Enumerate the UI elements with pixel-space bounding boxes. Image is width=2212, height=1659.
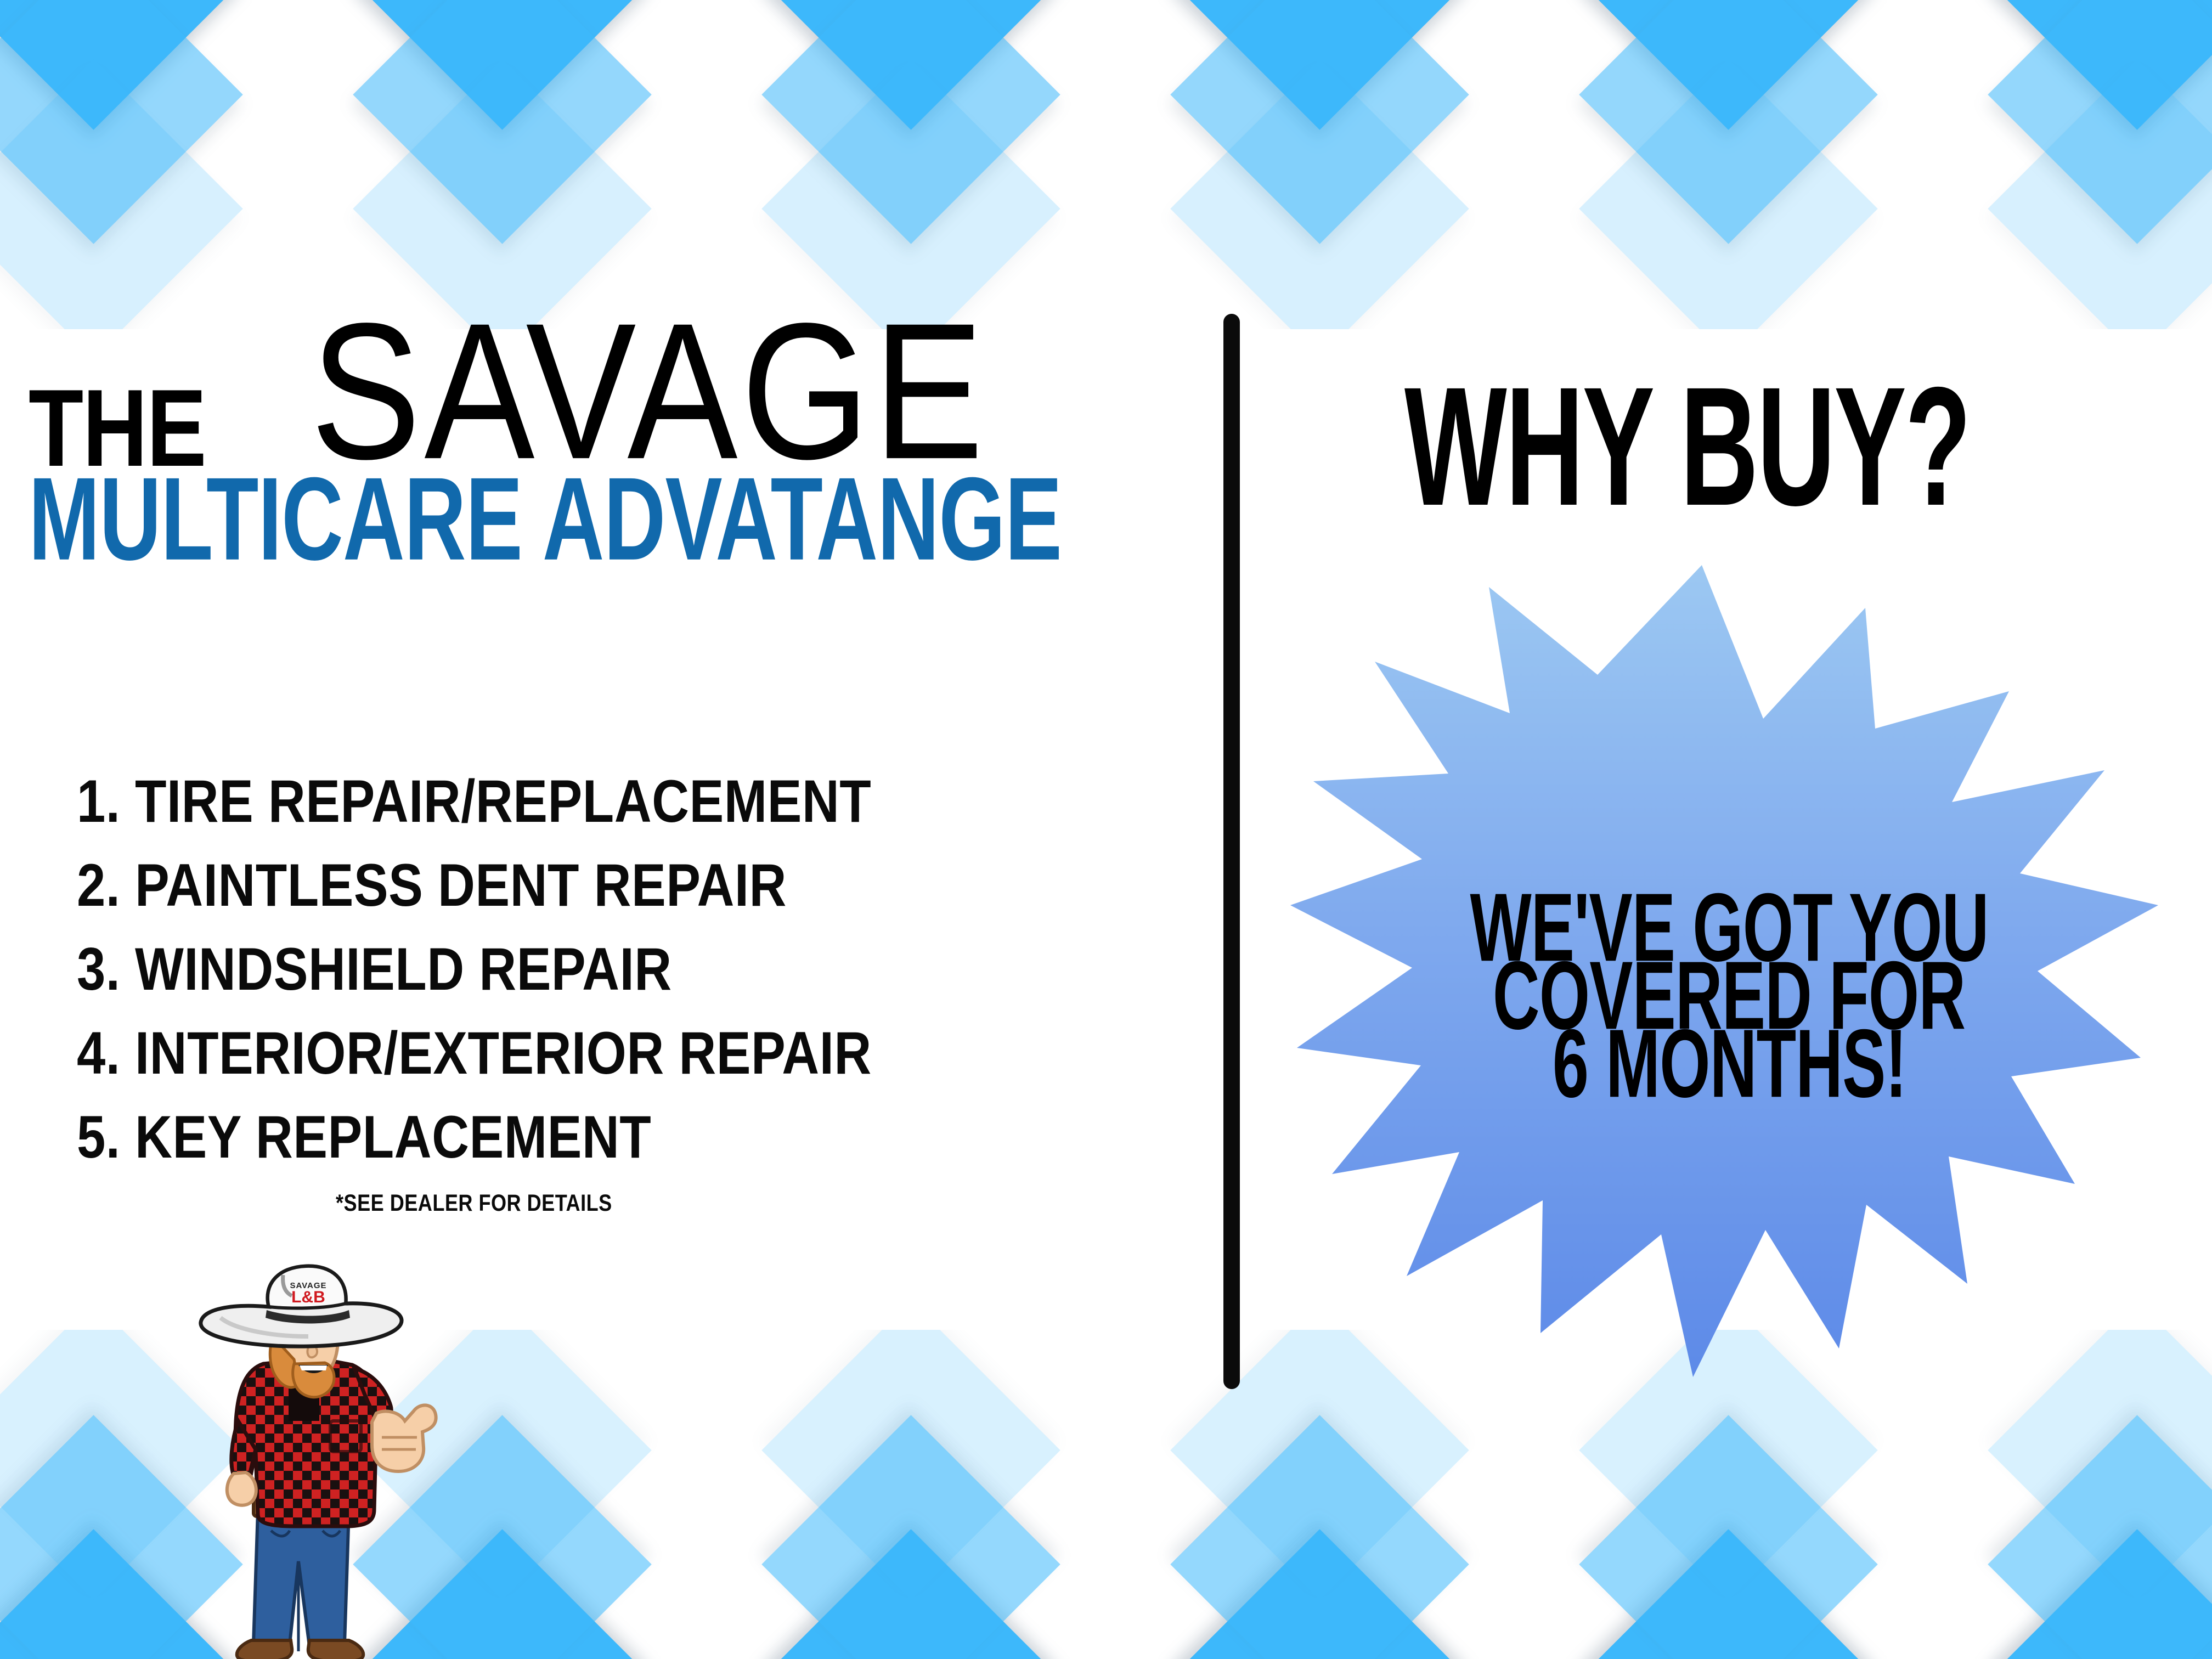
mascot-boots — [237, 1640, 363, 1659]
list-item: 4. INTERIOR/EXTERIOR REPAIR — [77, 1023, 872, 1083]
list-item: 1. TIRE REPAIR/REPLACEMENT — [77, 771, 872, 831]
starburst-badge: WE'VE GOT YOU COVERED FOR 6 MONTHS! — [1285, 554, 2174, 1388]
right-panel: WHY BUY? WE'VE GOT YOU COVERED FOR 6 MON… — [1240, 0, 2212, 1659]
fineprint-disclaimer: *SEE DEALER FOR DETAILS — [336, 1190, 612, 1217]
poster-canvas: THE SAVAGE MULTICARE ADVATANGE 1. TIRE R… — [0, 0, 2212, 1659]
mascot-jeans — [253, 1511, 349, 1657]
list-item: 3. WINDSHIELD REPAIR — [77, 939, 872, 999]
mascot-cowboy-hat: SAVAGE L&B — [201, 1266, 402, 1346]
why-buy-headline: WHY BUY? — [1404, 362, 1970, 531]
vertical-divider — [1223, 314, 1240, 1389]
starburst-shape — [1290, 565, 2158, 1377]
benefit-list: 1. TIRE REPAIR/REPLACEMENT 2. PAINTLESS … — [77, 771, 905, 1160]
title-subtitle: MULTICARE ADVATANGE — [29, 460, 1062, 578]
hat-logo-lb-text: L&B — [291, 1288, 325, 1306]
left-panel: THE SAVAGE MULTICARE ADVATANGE 1. TIRE R… — [0, 0, 1223, 1659]
mascot-cowboy-illustration: SAVAGE L&B — [181, 1256, 466, 1659]
list-item: 5. KEY REPLACEMENT — [77, 1107, 872, 1167]
list-item: 2. PAINTLESS DENT REPAIR — [77, 855, 872, 915]
